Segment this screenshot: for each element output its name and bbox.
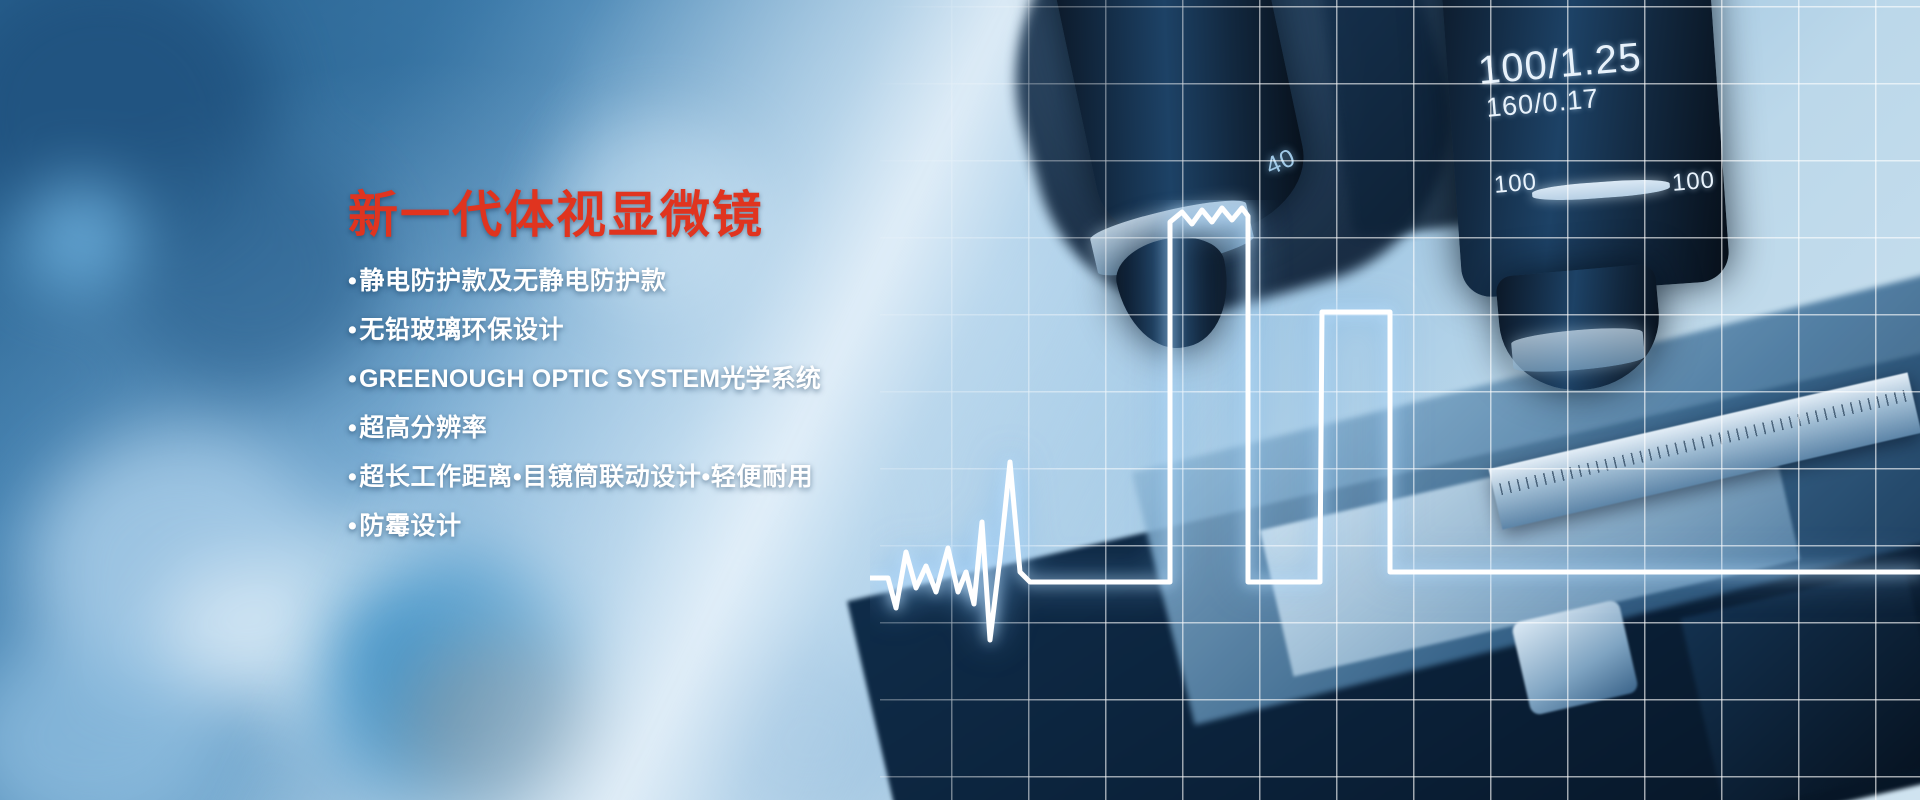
feature-item-1: • 静电防护款及无静电防护款: [348, 269, 1048, 294]
bullet-marker-icon: •: [348, 416, 357, 441]
feature-label: 无铅玻璃环保设计: [359, 318, 564, 343]
feature-item-2: • 无铅玻璃环保设计: [348, 318, 1048, 343]
feature-label: GREENOUGH OPTIC SYSTEM光学系统: [359, 367, 821, 392]
feature-item-6: • 防霉设计: [348, 514, 1048, 539]
feature-label: 超长工作距离•目镜筒联动设计•轻便耐用: [359, 465, 813, 490]
feature-label: 防霉设计: [359, 514, 461, 539]
feature-item-4: • 超高分辨率: [348, 416, 1048, 441]
hero-banner: 40 100/1.25 160/0.17 100 100 新一代体视显微镜 • …: [0, 0, 1920, 800]
page-title: 新一代体视显微镜: [348, 188, 1048, 243]
feature-label: 静电防护款及无静电防护款: [359, 269, 666, 294]
bullet-marker-icon: •: [348, 465, 357, 490]
bullet-marker-icon: •: [348, 269, 357, 294]
bullet-marker-icon: •: [348, 318, 357, 343]
bullet-marker-icon: •: [348, 367, 357, 392]
feature-item-3: • GREENOUGH OPTIC SYSTEM光学系统: [348, 367, 1048, 392]
feature-item-5: • 超长工作距离•目镜筒联动设计•轻便耐用: [348, 465, 1048, 490]
feature-label: 超高分辨率: [359, 416, 487, 441]
bullet-marker-icon: •: [348, 514, 357, 539]
hero-copy: 新一代体视显微镜 • 静电防护款及无静电防护款 • 无铅玻璃环保设计 • GRE…: [348, 188, 1048, 563]
objective-right-ring-label-right: 100: [1671, 166, 1716, 198]
